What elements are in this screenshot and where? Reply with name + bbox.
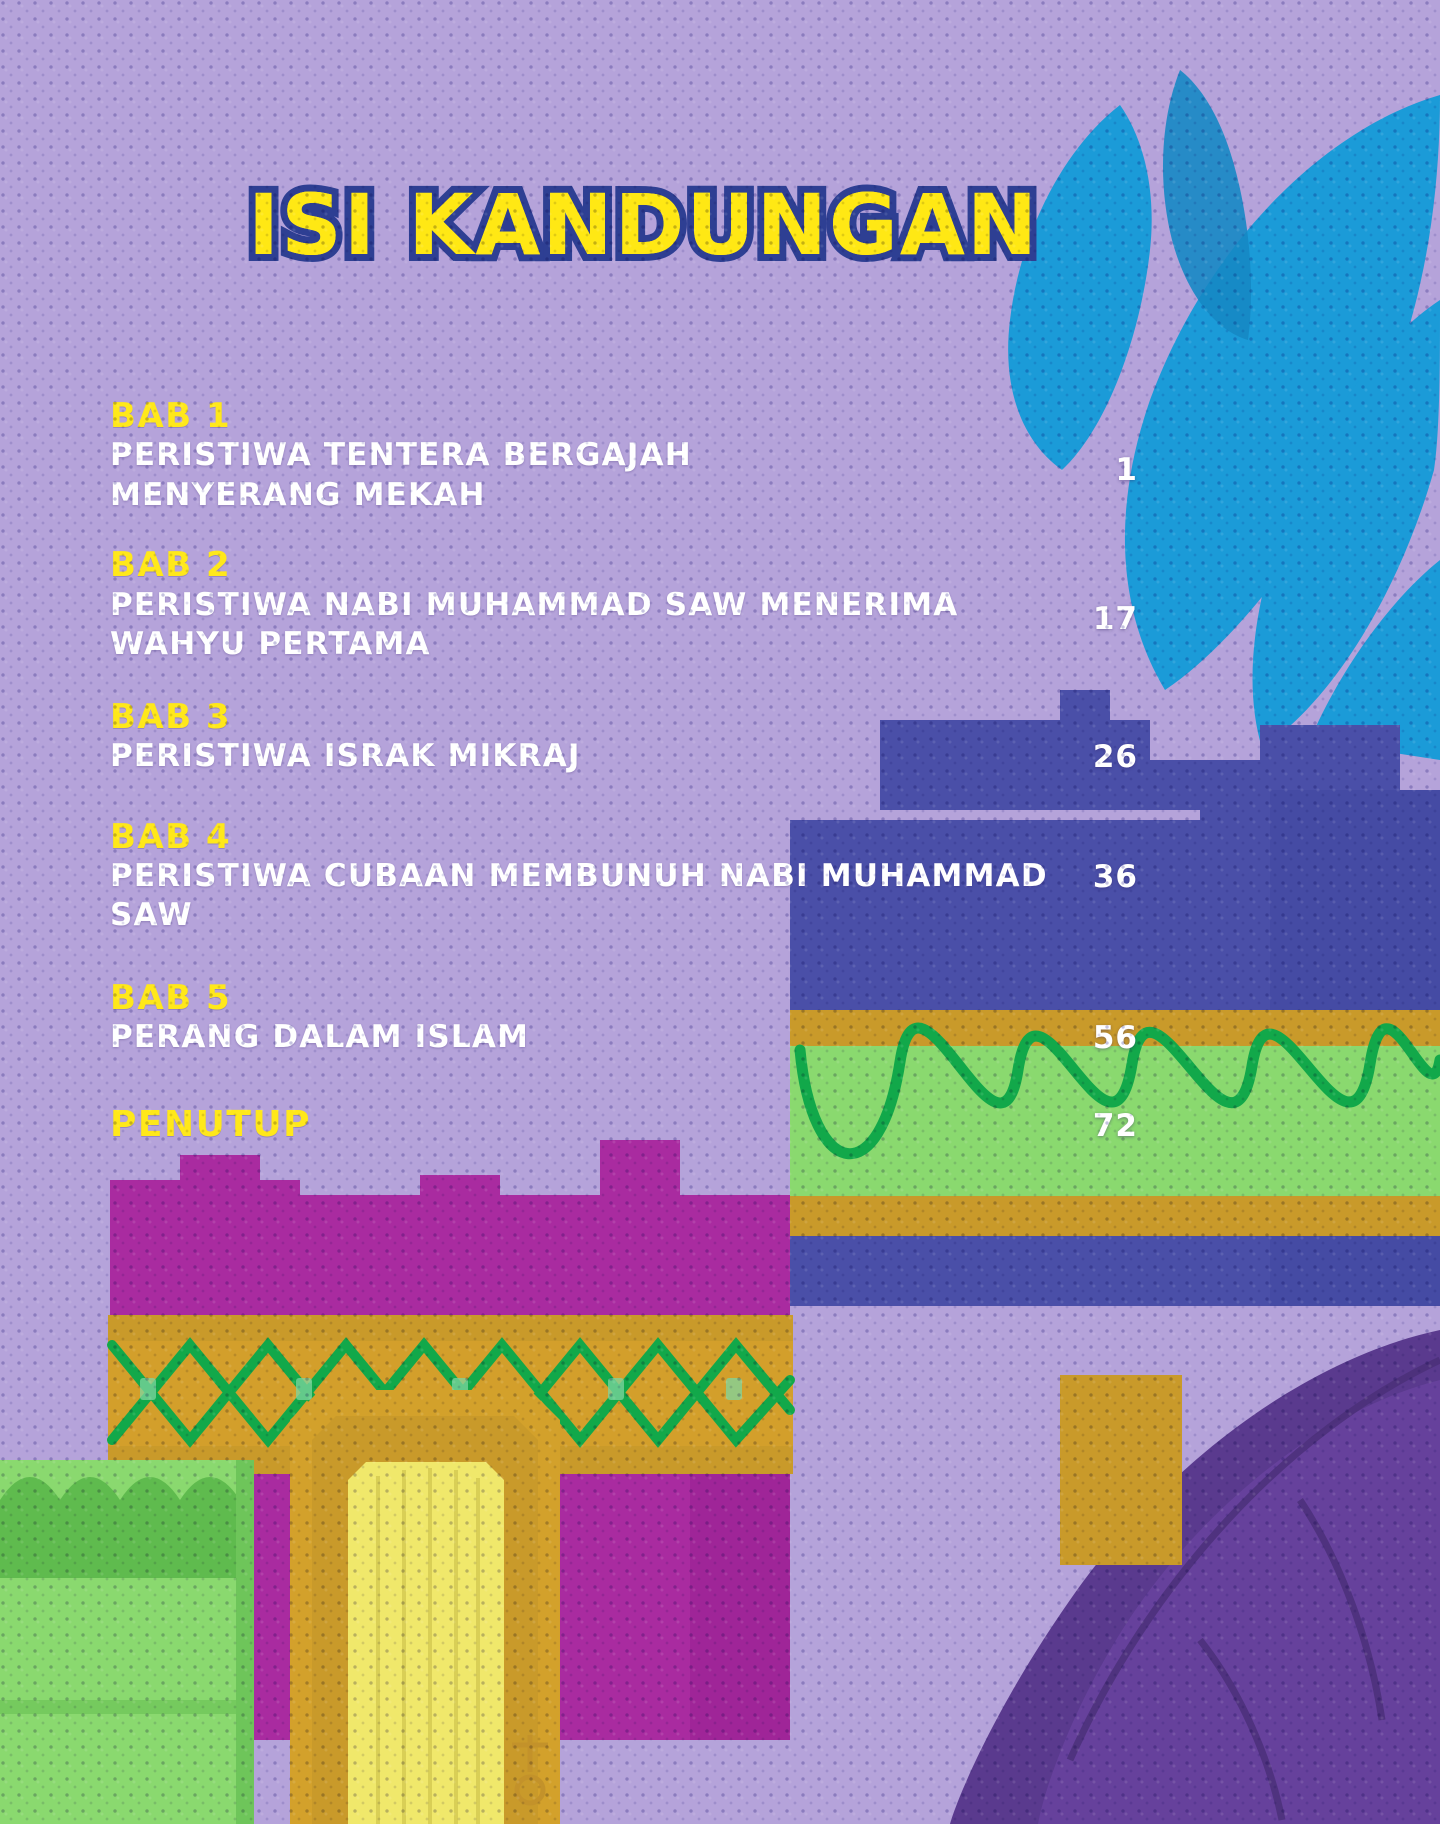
toc-entry-label: PENUTUP [110, 1104, 1350, 1146]
toc-entry-label: BAB 5 [110, 978, 1350, 1018]
toc-entry-bab-4[interactable]: BAB 4 PERISTIWA CUBAAN MEMBUNUH NABI MUH… [110, 817, 1350, 936]
toc-entry-description-line1: PERANG DALAM ISLAM [110, 1018, 1140, 1058]
table-of-contents: BAB 1 PERISTIWA TENTERA BERGAJAH MENYERA… [110, 396, 1350, 1174]
toc-entry-page-number: 1 [1048, 452, 1138, 488]
toc-entry-label: BAB 2 [110, 545, 1350, 585]
toc-entry-description-line1: PERISTIWA NABI MUHAMMAD SAW MENERIMA [110, 586, 1140, 626]
toc-entry-bab-2[interactable]: BAB 2 PERISTIWA NABI MUHAMMAD SAW MENERI… [110, 545, 1350, 664]
content-layer: ISI KANDUNGAN ISI KANDUNGAN BAB 1 PERIST… [0, 0, 1440, 1824]
toc-entry-description-line2: MENYERANG MEKAH [110, 476, 1140, 516]
toc-entry-bab-3[interactable]: BAB 3 PERISTIWA ISRAK MIKRAJ 26 [110, 697, 1350, 777]
toc-entry-bab-1[interactable]: BAB 1 PERISTIWA TENTERA BERGAJAH MENYERA… [110, 396, 1350, 515]
toc-entry-penutup[interactable]: PENUTUP 72 [110, 1104, 1350, 1146]
toc-entry-page-number: 26 [1048, 739, 1138, 775]
toc-entry-description-line2: WAHYU PERTAMA [110, 625, 1140, 665]
toc-entry-label: BAB 1 [110, 396, 1350, 436]
toc-entry-label: BAB 3 [110, 697, 1350, 737]
toc-entry-description-line1: PERISTIWA TENTERA BERGAJAH [110, 436, 1140, 476]
toc-entry-page-number: 17 [1048, 601, 1138, 637]
toc-entry-description-line1: PERISTIWA ISRAK MIKRAJ [110, 737, 1140, 777]
toc-entry-page-number: 72 [1048, 1108, 1138, 1144]
toc-page: ISI KANDUNGAN ISI KANDUNGAN BAB 1 PERIST… [0, 0, 1440, 1824]
toc-entry-page-number: 56 [1048, 1020, 1138, 1056]
toc-entry-bab-5[interactable]: BAB 5 PERANG DALAM ISLAM 56 [110, 978, 1350, 1058]
page-title: ISI KANDUNGAN [248, 176, 1039, 274]
toc-entry-label: BAB 4 [110, 817, 1350, 857]
toc-entry-description-line1: PERISTIWA CUBAAN MEMBUNUH NABI MUHAMMAD … [110, 857, 1140, 936]
toc-entry-page-number: 36 [1048, 859, 1138, 895]
